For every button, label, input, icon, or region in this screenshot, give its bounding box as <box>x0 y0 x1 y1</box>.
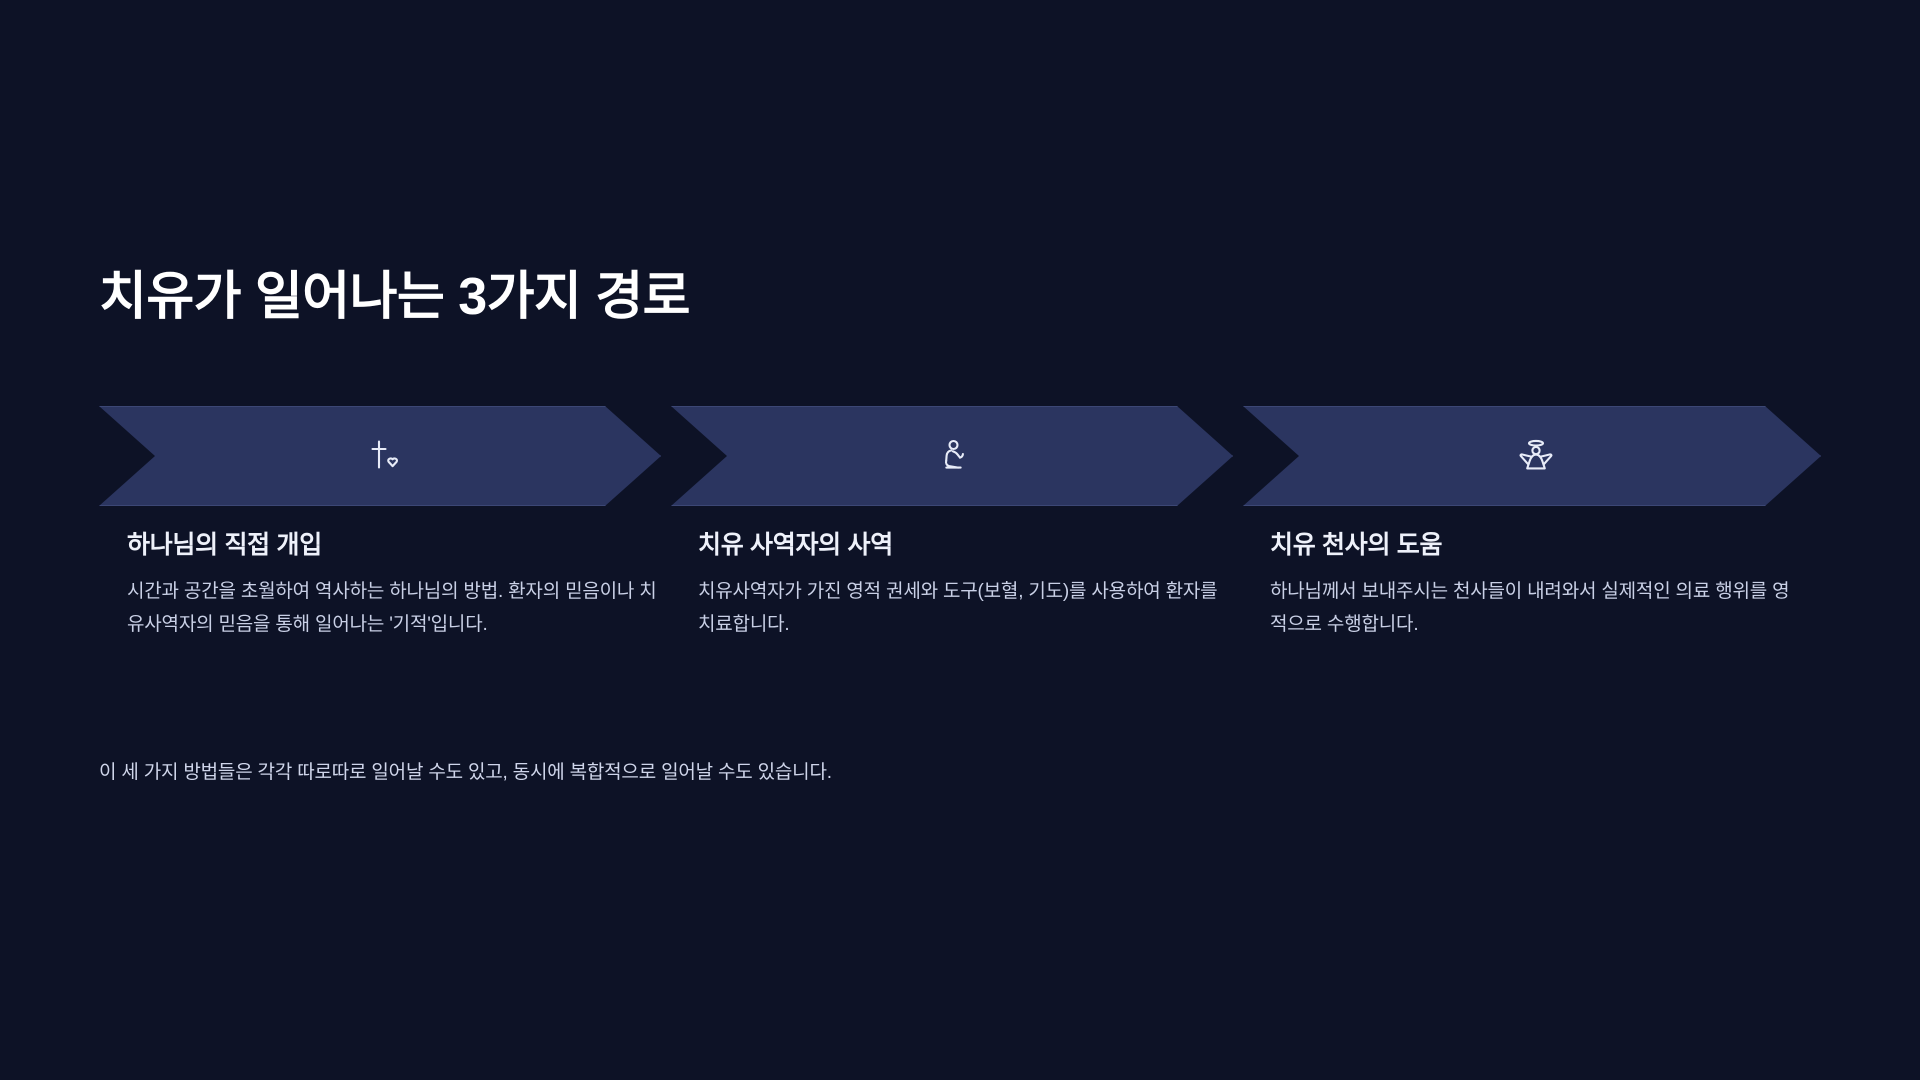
page-title: 치유가 일어나는 3가지 경로 <box>99 268 690 326</box>
angel-icon <box>1514 434 1558 478</box>
step-card-3-title: 치유 천사의 도움 <box>1270 530 1800 561</box>
summary-footnote: 이 세 가지 방법들은 각각 따로따로 일어날 수도 있고, 동시에 복합적으로… <box>99 758 832 788</box>
step-card-3-body: 하나님께서 보내주시는 천사들이 내려와서 실제적인 의료 행위를 영적으로 수… <box>1270 575 1800 641</box>
chevron-step-3[interactable] <box>1243 406 1821 506</box>
step-card-1: 하나님의 직접 개입 시간과 공간을 초월하여 역사하는 하나님의 방법. 환자… <box>127 530 657 641</box>
step-card-2-body: 치유사역자가 가진 영적 권세와 도구(보혈, 기도)를 사용하여 환자를 치료… <box>698 575 1228 641</box>
process-chevron-row <box>0 406 1920 506</box>
chevron-step-1[interactable] <box>99 406 661 506</box>
step-card-1-title: 하나님의 직접 개입 <box>127 530 657 561</box>
chevron-step-2[interactable] <box>671 406 1233 506</box>
cross-heart-icon <box>362 434 406 478</box>
slide-root: 치유가 일어나는 3가지 경로 <box>0 0 1920 1080</box>
kneeling-person-praying-icon <box>934 434 978 478</box>
step-card-2-title: 치유 사역자의 사역 <box>698 530 1228 561</box>
step-card-1-body: 시간과 공간을 초월하여 역사하는 하나님의 방법. 환자의 믿음이나 치유사역… <box>127 575 657 641</box>
step-card-3: 치유 천사의 도움 하나님께서 보내주시는 천사들이 내려와서 실제적인 의료 … <box>1270 530 1800 641</box>
step-card-2: 치유 사역자의 사역 치유사역자가 가진 영적 권세와 도구(보혈, 기도)를 … <box>698 530 1228 641</box>
